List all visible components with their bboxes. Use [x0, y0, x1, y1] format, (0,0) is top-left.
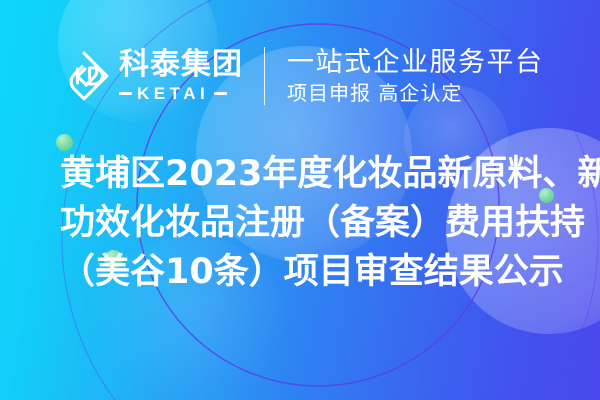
accent-dot	[56, 134, 73, 151]
brand-slogan: 一站式企业服务平台 项目申报 高企认定	[287, 47, 544, 105]
headline-line-2: 功效化妆品注册（备案）费用扶持	[60, 199, 560, 248]
brand-name-en: KETAI	[137, 85, 209, 102]
headline-line-3: （美谷10条）项目审查结果公示	[60, 248, 560, 297]
brand-logo[interactable]: 科泰集团 KETAI	[58, 50, 243, 102]
dash-left-icon	[119, 92, 132, 95]
headline-line-1: 黄埔区2023年度化妆品新原料、新	[60, 150, 560, 199]
brand-name-en-row: KETAI	[119, 85, 243, 102]
brand-logo-wordmark: 科泰集团 KETAI	[119, 50, 243, 102]
headline-block: 黄埔区2023年度化妆品新原料、新 功效化妆品注册（备案）费用扶持 （美谷10条…	[60, 150, 560, 297]
header-divider	[264, 47, 265, 105]
dash-right-icon	[214, 92, 227, 95]
slogan-primary: 一站式企业服务平台	[287, 47, 544, 78]
banner-header: 科泰集团 KETAI 一站式企业服务平台 项目申报 高企认定	[0, 40, 600, 112]
ketai-monogram-logo-icon	[58, 50, 110, 102]
promo-banner: 科泰集团 KETAI 一站式企业服务平台 项目申报 高企认定 黄埔区2023年度…	[0, 0, 600, 400]
slogan-secondary: 项目申报 高企认定	[287, 82, 544, 105]
brand-name-cn: 科泰集团	[119, 50, 243, 80]
